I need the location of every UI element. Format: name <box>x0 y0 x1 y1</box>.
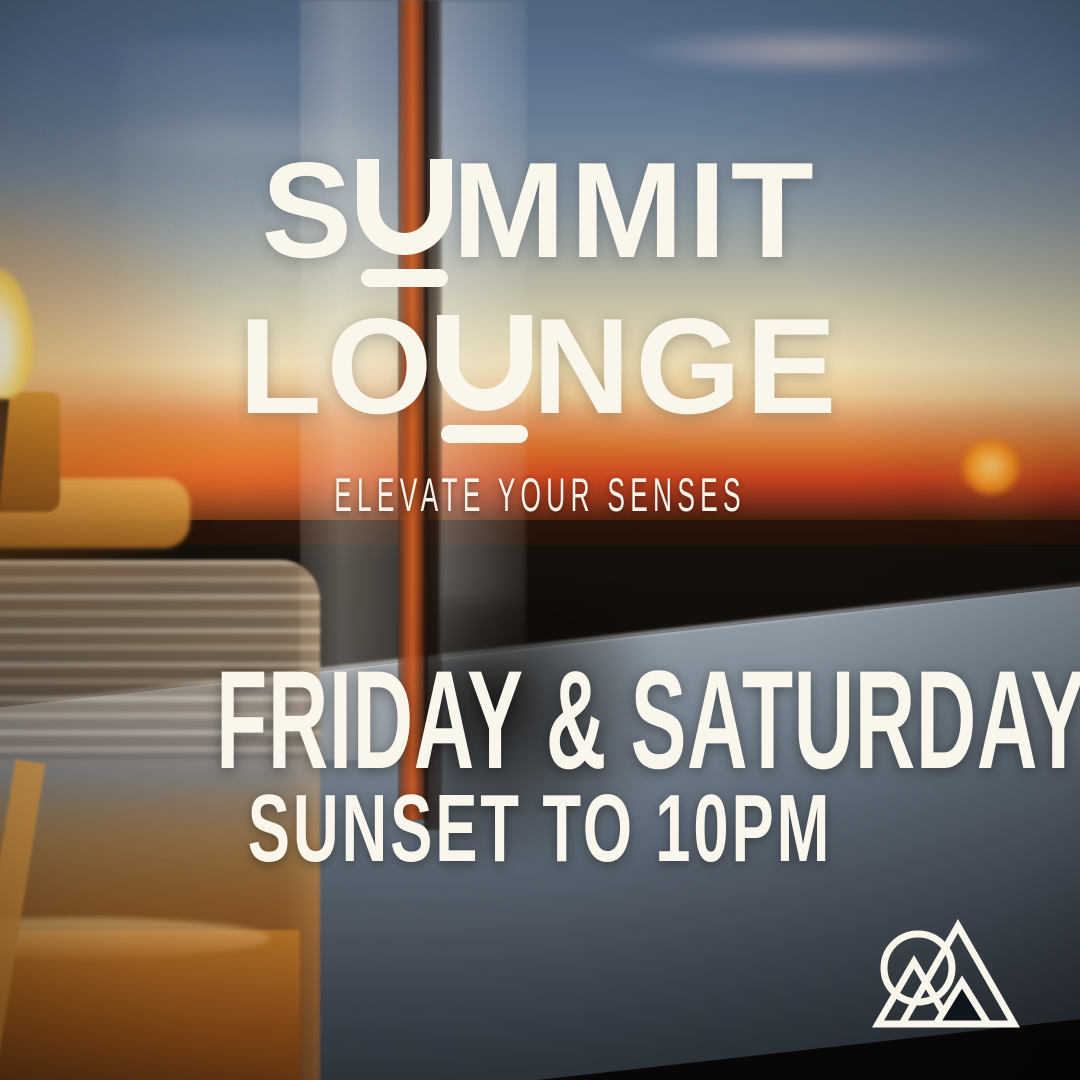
promo-poster: SMMIT LONGE ELEVATE YOUR SENSES FRIDAY &… <box>0 0 1080 1080</box>
u-bowl <box>357 159 452 254</box>
brand-block: SMMIT LONGE <box>0 152 1080 444</box>
stylized-u-glyph-icon <box>437 308 532 444</box>
brand-tagline: ELEVATE YOUR SENSES <box>238 467 843 522</box>
brand-line1-prefix: S <box>261 152 356 269</box>
event-days: FRIDAY & SATURDAY <box>216 650 864 790</box>
u-underbar <box>441 425 528 443</box>
brand-line2-prefix: LO <box>239 308 437 425</box>
u-bowl <box>437 315 532 410</box>
brand-name-line-2: LONGE <box>0 308 1080 444</box>
brand-line2-suffix: NGE <box>532 308 841 425</box>
text-overlay: SMMIT LONGE ELEVATE YOUR SENSES FRIDAY &… <box>0 0 1080 1080</box>
event-hours: SUNSET TO 10PM <box>184 781 897 877</box>
stylized-u-glyph-icon <box>357 152 452 288</box>
brand-name-line-1: SMMIT <box>0 152 1080 288</box>
summit-mountain-sun-logo-icon <box>870 920 1020 1030</box>
u-underbar <box>361 269 448 287</box>
brand-line1-suffix: MMIT <box>452 152 818 269</box>
